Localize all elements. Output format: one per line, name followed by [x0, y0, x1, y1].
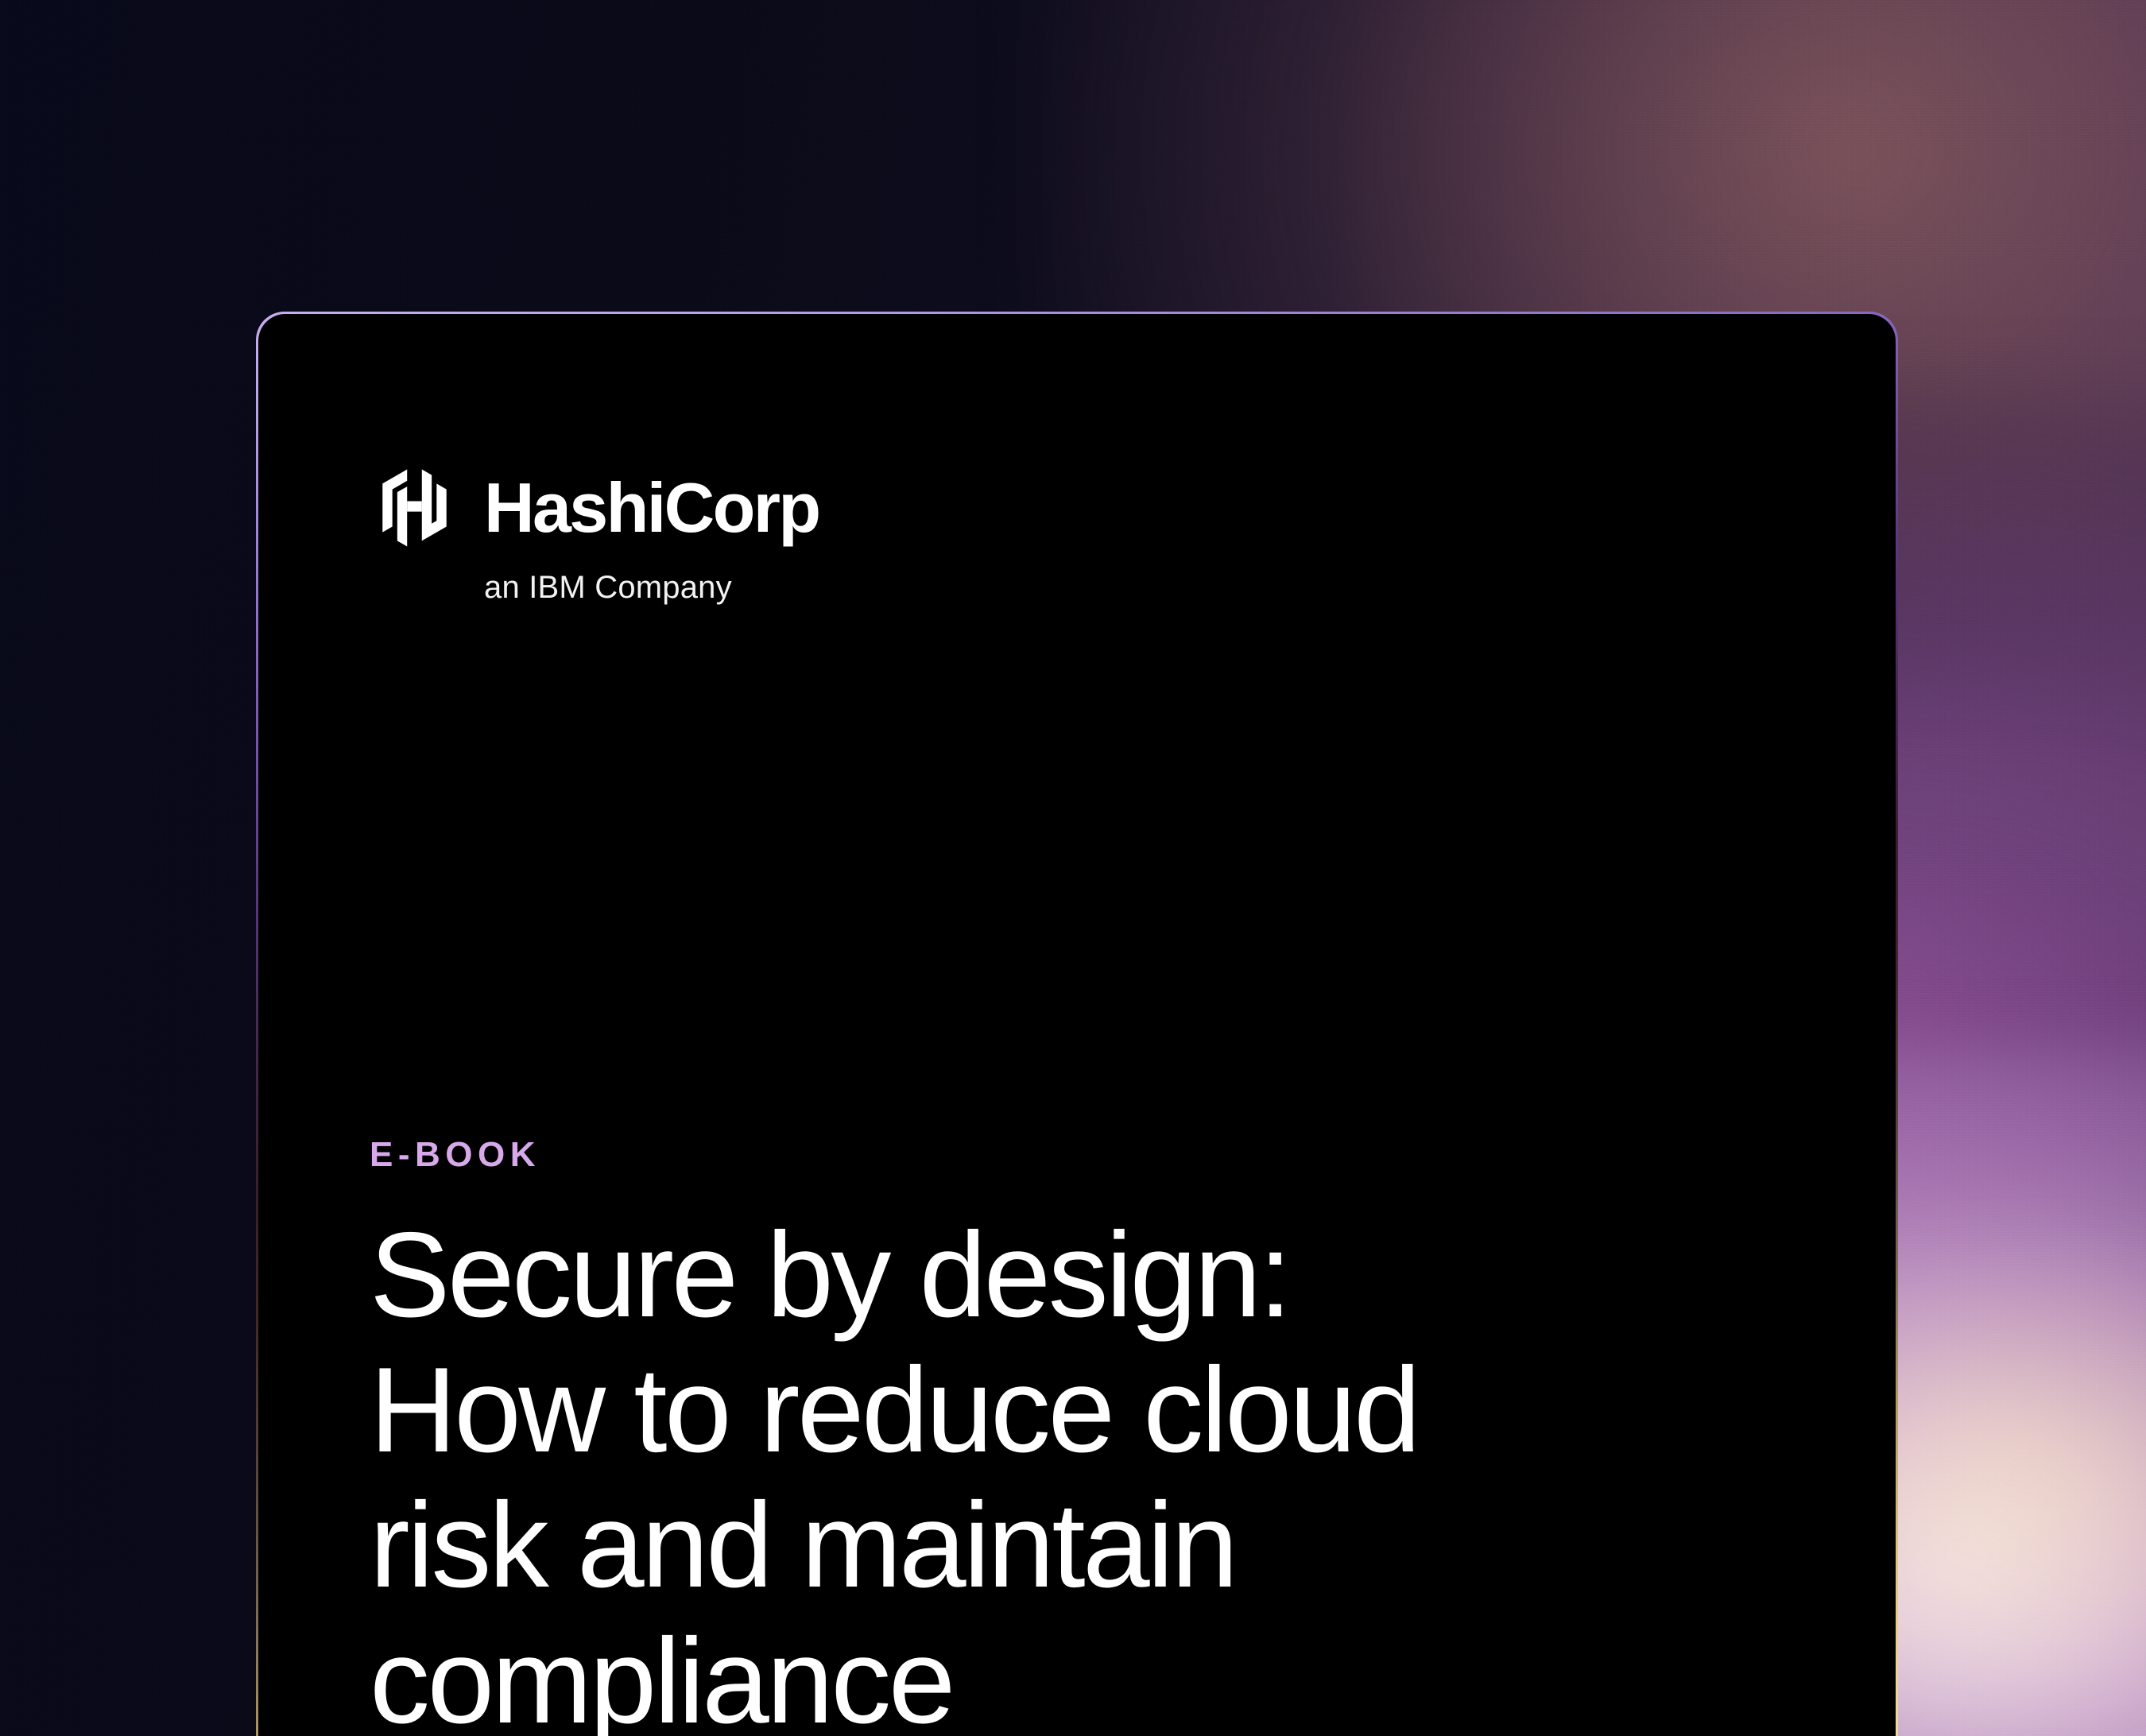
title-line-1: Secure by design:: [370, 1207, 1800, 1343]
title-line-4: compliance: [370, 1614, 1800, 1736]
hashicorp-wordmark: HashiCorp: [484, 473, 819, 543]
card-surface: HashiCorp an IBM Company E-BOOK Secure b…: [258, 314, 1896, 1736]
logo-subtitle: an IBM Company: [484, 572, 819, 603]
content-type-eyebrow: E-BOOK: [370, 1137, 540, 1172]
title-line-2: How to reduce cloud: [370, 1343, 1800, 1478]
ebook-cover-card: HashiCorp an IBM Company E-BOOK Secure b…: [256, 312, 1898, 1736]
brand-logo: HashiCorp an IBM Company: [370, 459, 819, 603]
cover-title: Secure by design: How to reduce cloud ri…: [370, 1207, 1800, 1736]
logo-row: HashiCorp: [370, 459, 819, 557]
title-line-3: risk and maintain: [370, 1478, 1800, 1613]
hashicorp-hexagon-h-logo-icon: [370, 459, 457, 557]
card-gradient-border: HashiCorp an IBM Company E-BOOK Secure b…: [256, 312, 1898, 1736]
card-content-area: HashiCorp an IBM Company E-BOOK Secure b…: [370, 314, 1896, 1736]
